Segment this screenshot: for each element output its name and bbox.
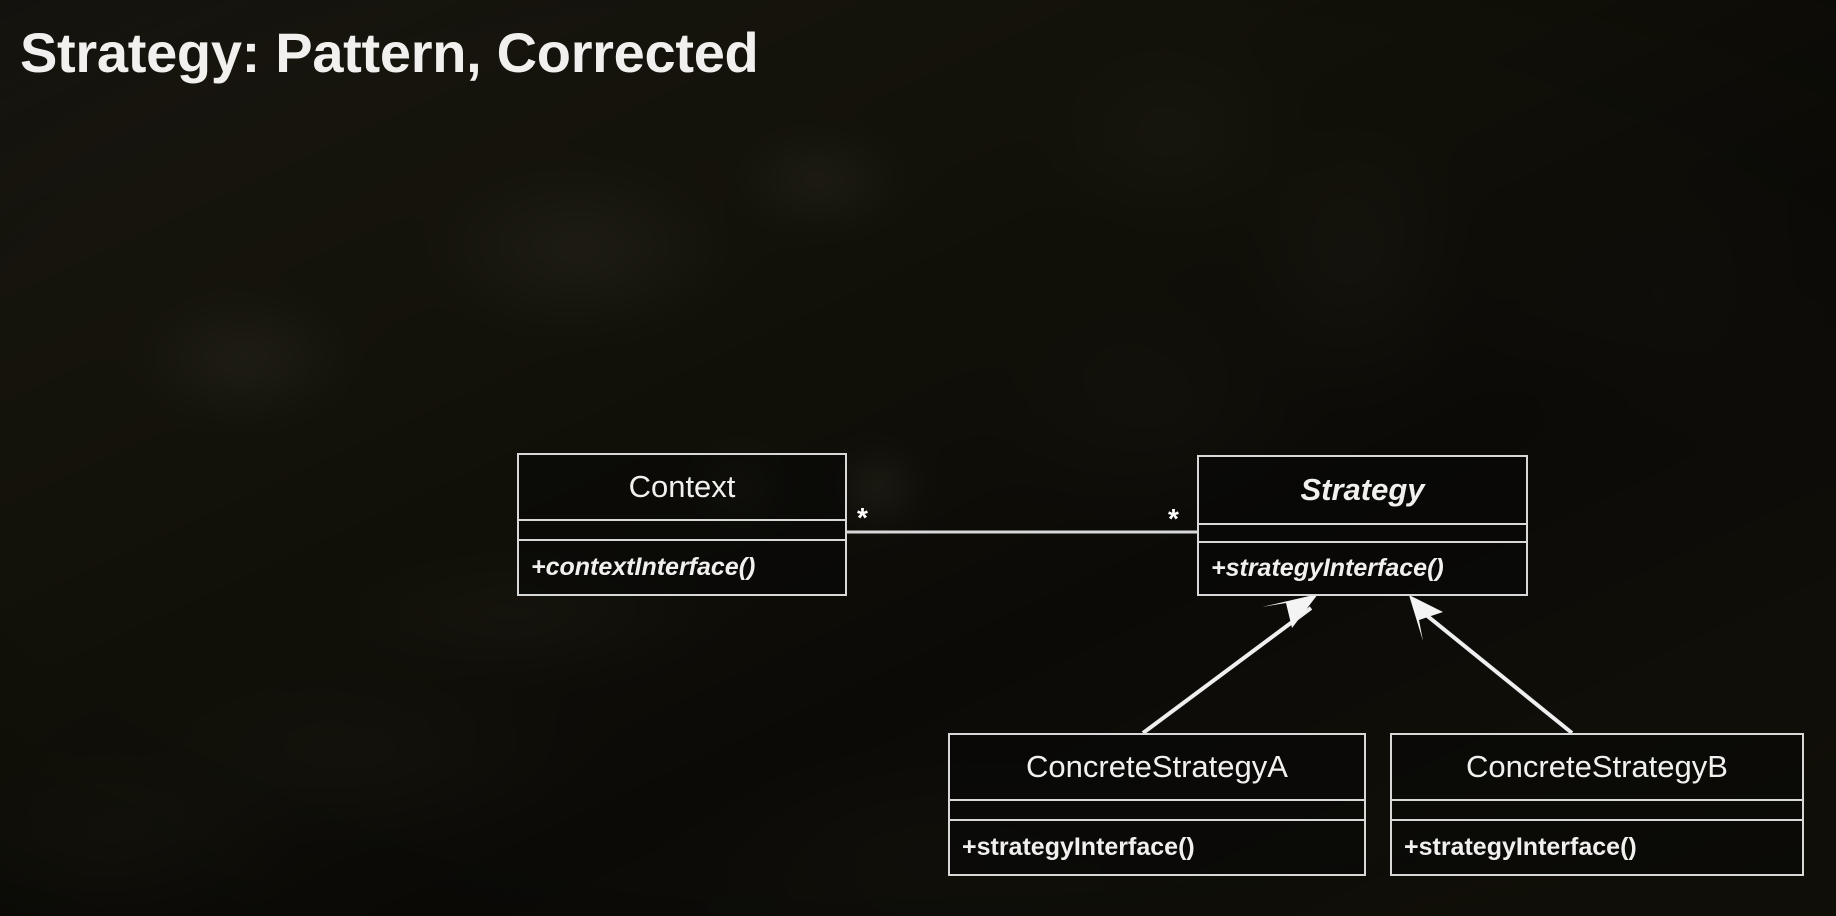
uml-class-concrete-strategy-b[interactable]: ConcreteStrategyB +strategyInterface(): [1390, 733, 1804, 876]
uml-attributes-context: [519, 519, 845, 539]
uml-class-name-concrete-strategy-a: ConcreteStrategyA: [950, 735, 1364, 799]
uml-class-concrete-strategy-a[interactable]: ConcreteStrategyA +strategyInterface(): [948, 733, 1366, 876]
uml-operation-concrete-strategy-b-interface: +strategyInterface(): [1392, 819, 1802, 874]
uml-class-name-context: Context: [519, 455, 845, 519]
uml-class-strategy[interactable]: Strategy +strategyInterface(): [1197, 455, 1528, 596]
generalization-arrowhead-concrete-a: [1262, 594, 1318, 628]
uml-operation-strategy-interface: +strategyInterface(): [1199, 541, 1526, 594]
uml-attributes-concrete-strategy-b: [1392, 799, 1802, 819]
multiplicity-context-end: *: [857, 504, 868, 532]
generalization-arrowhead-concrete-b: [1409, 595, 1443, 641]
uml-class-context[interactable]: Context +contextInterface(): [517, 453, 847, 596]
uml-attributes-strategy: [1199, 523, 1526, 541]
multiplicity-strategy-end: *: [1168, 505, 1179, 533]
generalization-line-concrete-a: [1143, 608, 1311, 733]
uml-class-name-strategy: Strategy: [1199, 457, 1526, 523]
slide-canvas: Strategy: Pattern, Corrected Context +co…: [0, 0, 1836, 916]
uml-class-diagram: Context +contextInterface() Strategy +st…: [0, 0, 1836, 916]
uml-operation-context-interface: +contextInterface(): [519, 539, 845, 594]
uml-attributes-concrete-strategy-a: [950, 799, 1364, 819]
uml-class-name-concrete-strategy-b: ConcreteStrategyB: [1392, 735, 1802, 799]
generalization-line-concrete-b: [1420, 610, 1572, 733]
uml-operation-concrete-strategy-a-interface: +strategyInterface(): [950, 819, 1364, 874]
